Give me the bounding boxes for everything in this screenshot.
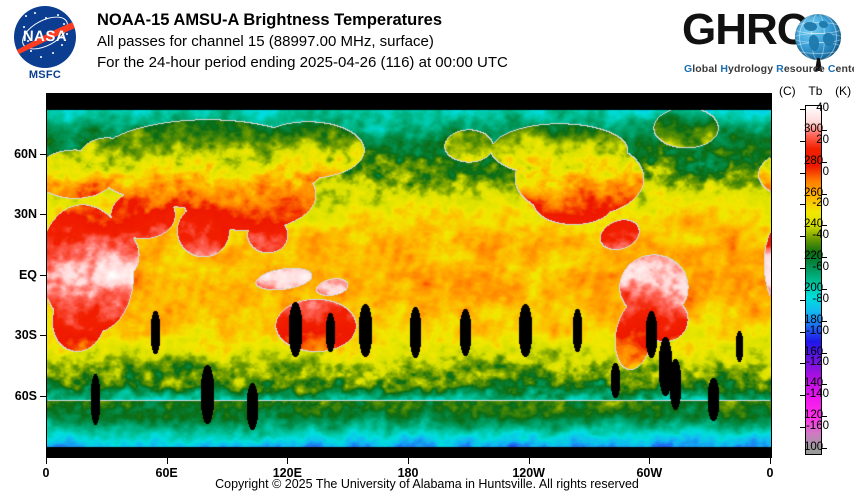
colorbar-label-kelvin: 120 xyxy=(804,409,823,421)
y-axis-label: 60S xyxy=(15,389,37,403)
colorbar-tick-celsius xyxy=(800,141,805,142)
ghrc-wordmark: GHRC xyxy=(682,8,808,52)
colorbar-label-celsius: -120 xyxy=(806,356,829,368)
colorbar-label-celsius: -20 xyxy=(812,197,829,209)
x-axis-tick xyxy=(46,458,47,464)
colorbar-tick-celsius xyxy=(800,109,805,110)
ghrc-tagline-word: enter xyxy=(836,63,854,75)
colorbar-unit-celsius: (C) xyxy=(779,84,796,98)
nasa-wordmark: NASA xyxy=(14,28,76,45)
page-title: NOAA-15 AMSU-A Brightness Temperatures xyxy=(97,9,677,31)
colorbar-label-kelvin: 300 xyxy=(804,123,823,135)
colorbar-label-celsius: -160 xyxy=(806,420,829,432)
ghrc-logo: GHRC Global Hydrology Resource Center xyxy=(682,6,842,80)
colorbar-label-kelvin: 240 xyxy=(804,218,823,230)
y-axis-label: 60N xyxy=(14,147,37,161)
y-axis-tick xyxy=(40,154,46,155)
y-axis-label: 30N xyxy=(14,207,37,221)
colorbar-label-celsius: -100 xyxy=(806,325,829,337)
y-axis-tick xyxy=(40,275,46,276)
colorbar-tick-celsius xyxy=(800,204,805,205)
colorbar-header: (C) Tb (K) xyxy=(779,84,852,98)
ghrc-tagline-word: ydrology xyxy=(728,63,776,75)
map-raster xyxy=(47,94,771,457)
colorbar-label-celsius: 40 xyxy=(816,102,829,114)
colorbar-label-kelvin: 280 xyxy=(804,155,823,167)
globe-icon xyxy=(795,14,841,60)
x-axis-tick xyxy=(167,458,168,464)
colorbar-label-celsius: -60 xyxy=(812,261,829,273)
colorbar-tick-celsius xyxy=(800,268,805,269)
x-axis-tick xyxy=(770,458,771,464)
colorbar-label-celsius: -80 xyxy=(812,293,829,305)
colorbar-label-celsius: -40 xyxy=(812,229,829,241)
colorbar-tick-celsius xyxy=(800,332,805,333)
colorbar-label-celsius: 0 xyxy=(823,166,829,178)
ghrc-tagline-word: esource xyxy=(784,63,828,75)
colorbar-unit-kelvin: (K) xyxy=(835,84,851,98)
title-block: NOAA-15 AMSU-A Brightness Temperatures A… xyxy=(97,9,677,73)
brightness-temperature-map[interactable] xyxy=(46,93,772,458)
colorbar-label-kelvin: 220 xyxy=(804,250,823,262)
colorbar-label-kelvin: 100 xyxy=(804,441,823,453)
x-axis-tick xyxy=(408,458,409,464)
copyright-footer: Copyright © 2025 The University of Alaba… xyxy=(0,477,854,491)
colorbar-tick-celsius xyxy=(800,427,805,428)
colorbar-label-celsius: 20 xyxy=(816,134,829,146)
y-axis-tick xyxy=(40,335,46,336)
colorbar-label-kelvin: 160 xyxy=(804,346,823,358)
ghrc-tagline-capital: C xyxy=(828,63,836,75)
nasa-center-label: MSFC xyxy=(14,69,76,81)
ghrc-tagline-word: lobal xyxy=(692,63,720,75)
y-axis-tick xyxy=(40,214,46,215)
colorbar-tick-celsius xyxy=(800,173,805,174)
ghrc-tagline-capital: R xyxy=(776,63,784,75)
y-axis-tick xyxy=(40,396,46,397)
x-axis-tick xyxy=(529,458,530,464)
x-axis-tick xyxy=(649,458,650,464)
colorbar-label-celsius: -140 xyxy=(806,388,829,400)
y-axis: 60N30NEQ30S60S xyxy=(0,93,46,458)
colorbar-tick-celsius xyxy=(800,236,805,237)
colorbar-label-kelvin: 260 xyxy=(804,187,823,199)
colorbar-tick-celsius xyxy=(800,300,805,301)
colorbar-quantity-label: Tb xyxy=(808,84,822,98)
colorbar-label-kelvin: 200 xyxy=(804,282,823,294)
colorbar-tick-celsius xyxy=(800,363,805,364)
colorbar-label-kelvin: 180 xyxy=(804,314,823,326)
colorbar-label-kelvin: 140 xyxy=(804,377,823,389)
colorbar-tick-celsius xyxy=(800,395,805,396)
subtitle-period: For the 24-hour period ending 2025-04-26… xyxy=(97,52,677,73)
y-axis-label: 30S xyxy=(15,328,37,342)
ghrc-tagline: Global Hydrology Resource Center xyxy=(684,63,854,75)
ghrc-tagline-capital: H xyxy=(720,63,728,75)
subtitle-channel: All passes for channel 15 (88997.00 MHz,… xyxy=(97,31,677,52)
nasa-meatball-icon: NASA xyxy=(14,6,76,68)
colorbar: (C) Tb (K) 40200-20-40-60-80-100-120-140… xyxy=(779,84,854,464)
nasa-logo: NASA MSFC xyxy=(14,6,80,84)
y-axis-label: EQ xyxy=(19,268,37,282)
x-axis-tick xyxy=(287,458,288,464)
